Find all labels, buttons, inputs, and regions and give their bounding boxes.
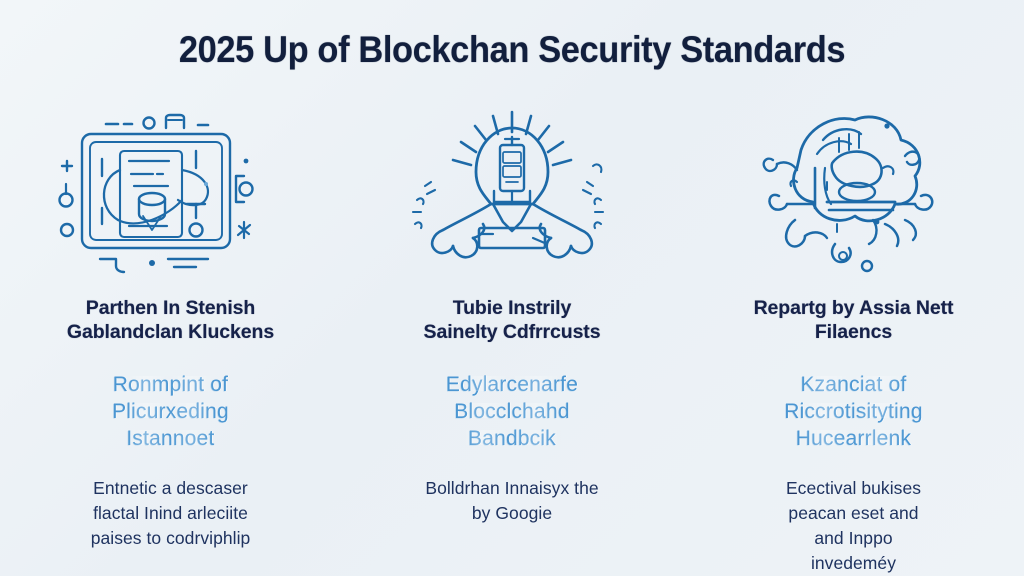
subtitle-line: Bandbcik [446,425,578,452]
body-line: Bolldrhan Innaisyx the [425,476,598,501]
column-2-subtitle: Edylarcenarfe Blocclchahd Bandbcik [446,371,578,452]
subtitle-line: Edylarcenarfe [446,371,578,398]
column-1-subtitle: Ronmpint of Plicurxeding Istannoet [112,371,229,452]
columns-container: Parthen In Stenish Gablandclan Kluckens … [0,104,1024,574]
infographic-poster: 2025 Up of Blockchan Security Standards [0,0,1024,576]
body-line: by Googie [425,501,598,526]
subtitle-line: Ronmpint of [112,371,229,398]
body-line: flactal Inind arleciite [91,501,251,526]
body-line: and Inppo [786,526,921,551]
lightbulb-hands-idea-icon [397,104,627,276]
subtitle-line: Hucearrlenk [784,425,923,452]
subtitle-line: Riccrotisityting [784,398,923,425]
column-1-body: Entnetic a descaser flactal Inind arleci… [91,476,251,551]
heading-line: Sainelty Cdfrrcusts [424,321,601,343]
cloud-blob-network-icon [739,104,969,276]
body-line: paises to codrviphlip [91,526,251,551]
body-line: peacan eset and [786,501,921,526]
column-2-heading: Tubie Instrily Sainelty Cdfrrcusts [424,296,601,344]
column-2: Tubie Instrily Sainelty Cdfrrcusts Edyla… [342,104,683,526]
column-3-heading: Repartg by Assia Nett Filaencs [754,296,954,344]
column-1: Parthen In Stenish Gablandclan Kluckens … [0,104,341,551]
heading-line: Parthen In Stenish [86,297,255,319]
subtitle-line: Kzanciat of [784,371,923,398]
column-1-heading: Parthen In Stenish Gablandclan Kluckens [67,296,274,344]
document-database-screen-icon [56,104,286,276]
column-3-subtitle: Kzanciat of Riccrotisityting Hucearrlenk [784,371,923,452]
subtitle-line: Istannoet [112,425,229,452]
column-3: Repartg by Assia Nett Filaencs Kzanciat … [683,104,1024,576]
subtitle-line: Blocclchahd [446,398,578,425]
body-line: invedeméy [786,551,921,576]
heading-line: Gablandclan Kluckens [67,321,274,343]
heading-line: Repartg by Assia Nett [754,297,954,319]
subtitle-line: Plicurxeding [112,398,229,425]
body-line: Ecectival bukises [786,476,921,501]
column-3-body: Ecectival bukises peacan eset and and In… [786,476,921,576]
column-2-body: Bolldrhan Innaisyx the by Googie [425,476,598,526]
heading-line: Tubie Instrily [453,297,572,319]
page-title: 2025 Up of Blockchan Security Standards [36,27,988,73]
body-line: Entnetic a descaser [91,476,251,501]
heading-line: Filaencs [815,321,892,343]
